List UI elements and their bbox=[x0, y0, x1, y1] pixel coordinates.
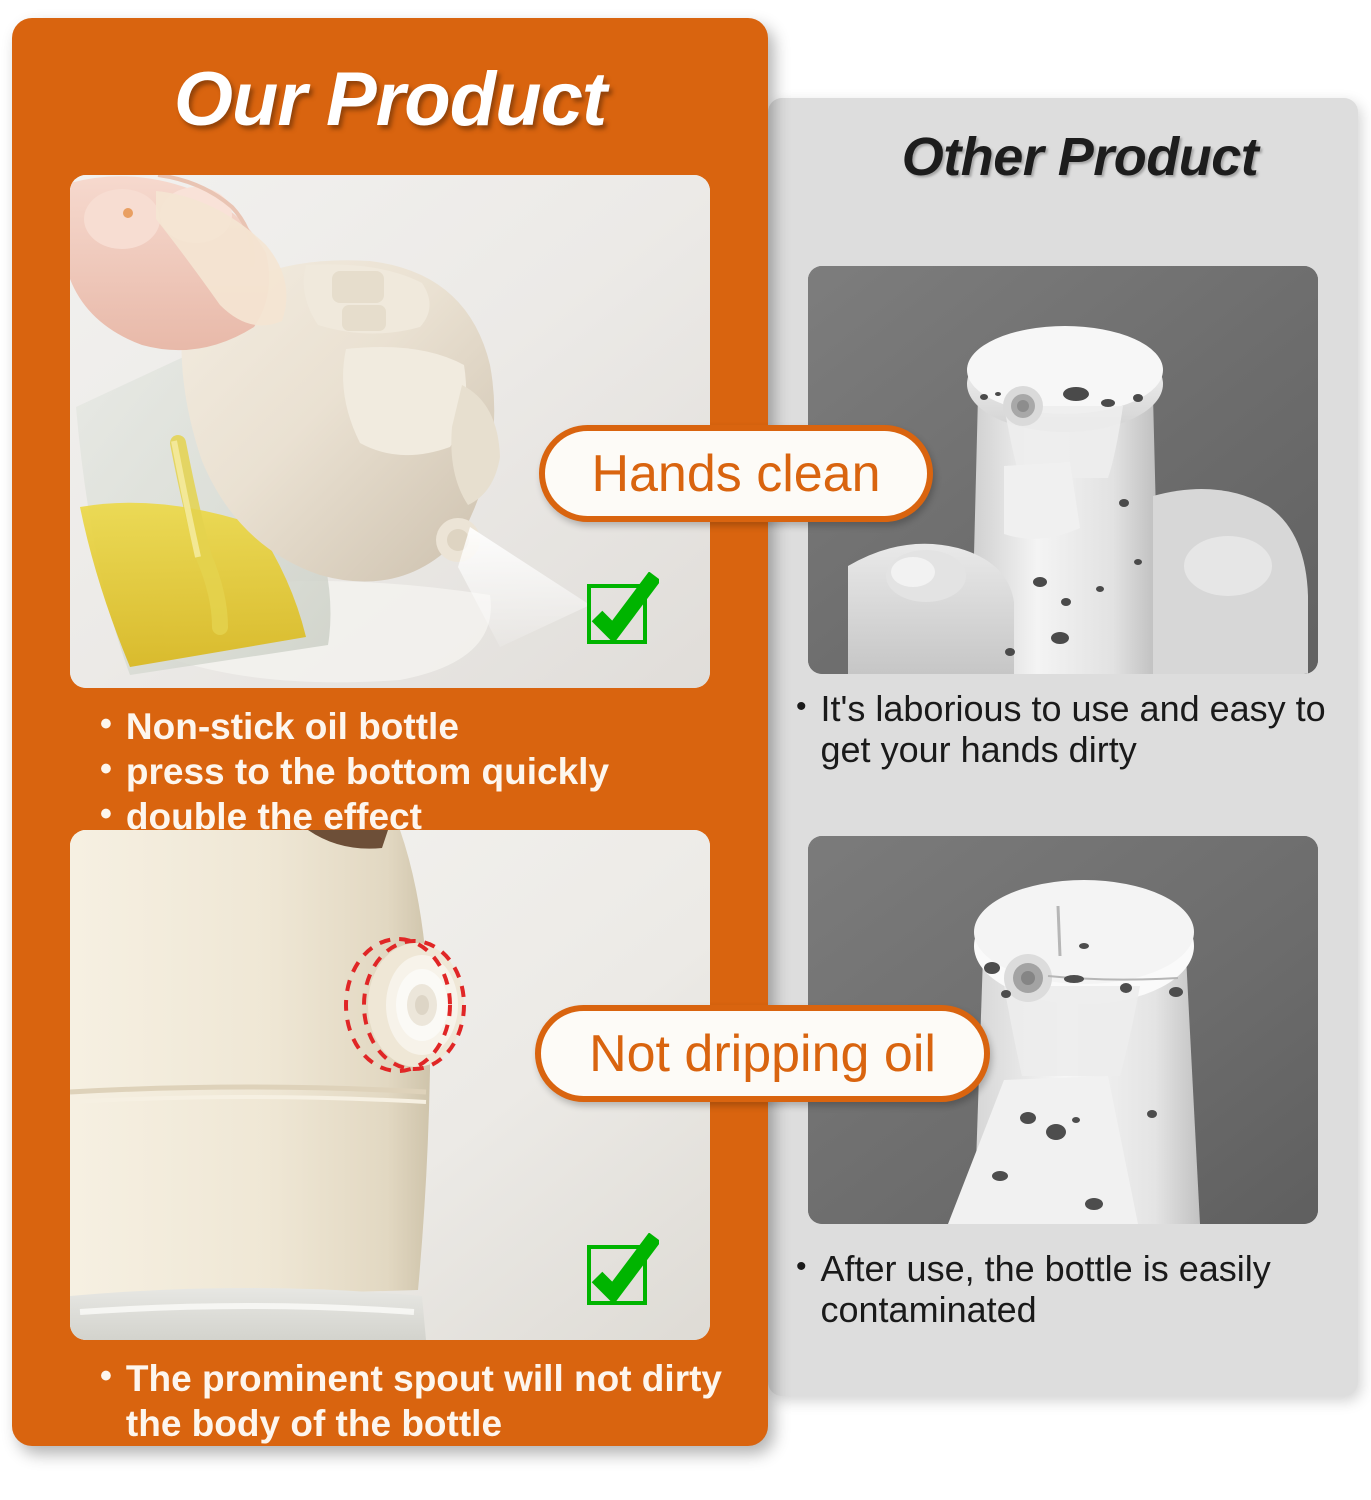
other-product-caption-1-text: It's laborious to use and easy to get yo… bbox=[821, 688, 1352, 771]
badge-not-dripping-oil-label: Not dripping oil bbox=[589, 1024, 936, 1084]
other-product-caption-1: • It's laborious to use and easy to get … bbox=[796, 688, 1352, 771]
list-item: • The prominent spout will not dirty the… bbox=[100, 1356, 740, 1446]
other-product-title: Other Product bbox=[820, 126, 1340, 188]
bullet-marker-icon: • bbox=[100, 1356, 112, 1397]
our-product-bullet-1: Non-stick oil bottle bbox=[126, 704, 740, 749]
other-product-caption-2-text: After use, the bottle is easily contamin… bbox=[821, 1248, 1352, 1331]
our-product-title: Our Product bbox=[12, 56, 768, 143]
badge-hands-clean-label: Hands clean bbox=[591, 444, 880, 504]
badge-not-dripping-oil: Not dripping oil bbox=[535, 1005, 990, 1102]
other-product-panel: Other Product bbox=[768, 98, 1358, 1396]
bullet-marker-icon: • bbox=[100, 749, 112, 790]
our-product-bullet-4: The prominent spout will not dirty the b… bbox=[126, 1356, 740, 1446]
badge-hands-clean: Hands clean bbox=[539, 425, 933, 522]
green-check-badge-top bbox=[583, 572, 659, 648]
check-icon bbox=[583, 572, 659, 648]
our-product-bullets-top: • Non-stick oil bottle • press to the bo… bbox=[100, 704, 740, 839]
list-item: • press to the bottom quickly bbox=[100, 749, 740, 794]
our-product-bullets-bottom: • The prominent spout will not dirty the… bbox=[100, 1356, 740, 1446]
comparison-infographic: Other Product bbox=[0, 0, 1371, 1500]
green-check-badge-bottom bbox=[583, 1233, 659, 1309]
list-item: • Non-stick oil bottle bbox=[100, 704, 740, 749]
check-icon bbox=[583, 1233, 659, 1309]
other-product-caption-2: • After use, the bottle is easily contam… bbox=[796, 1248, 1352, 1331]
bullet-marker-icon: • bbox=[796, 688, 807, 726]
bullet-marker-icon: • bbox=[100, 704, 112, 745]
our-product-panel: Our Product bbox=[12, 18, 768, 1446]
our-product-bullet-2: press to the bottom quickly bbox=[126, 749, 740, 794]
bullet-marker-icon: • bbox=[796, 1248, 807, 1286]
